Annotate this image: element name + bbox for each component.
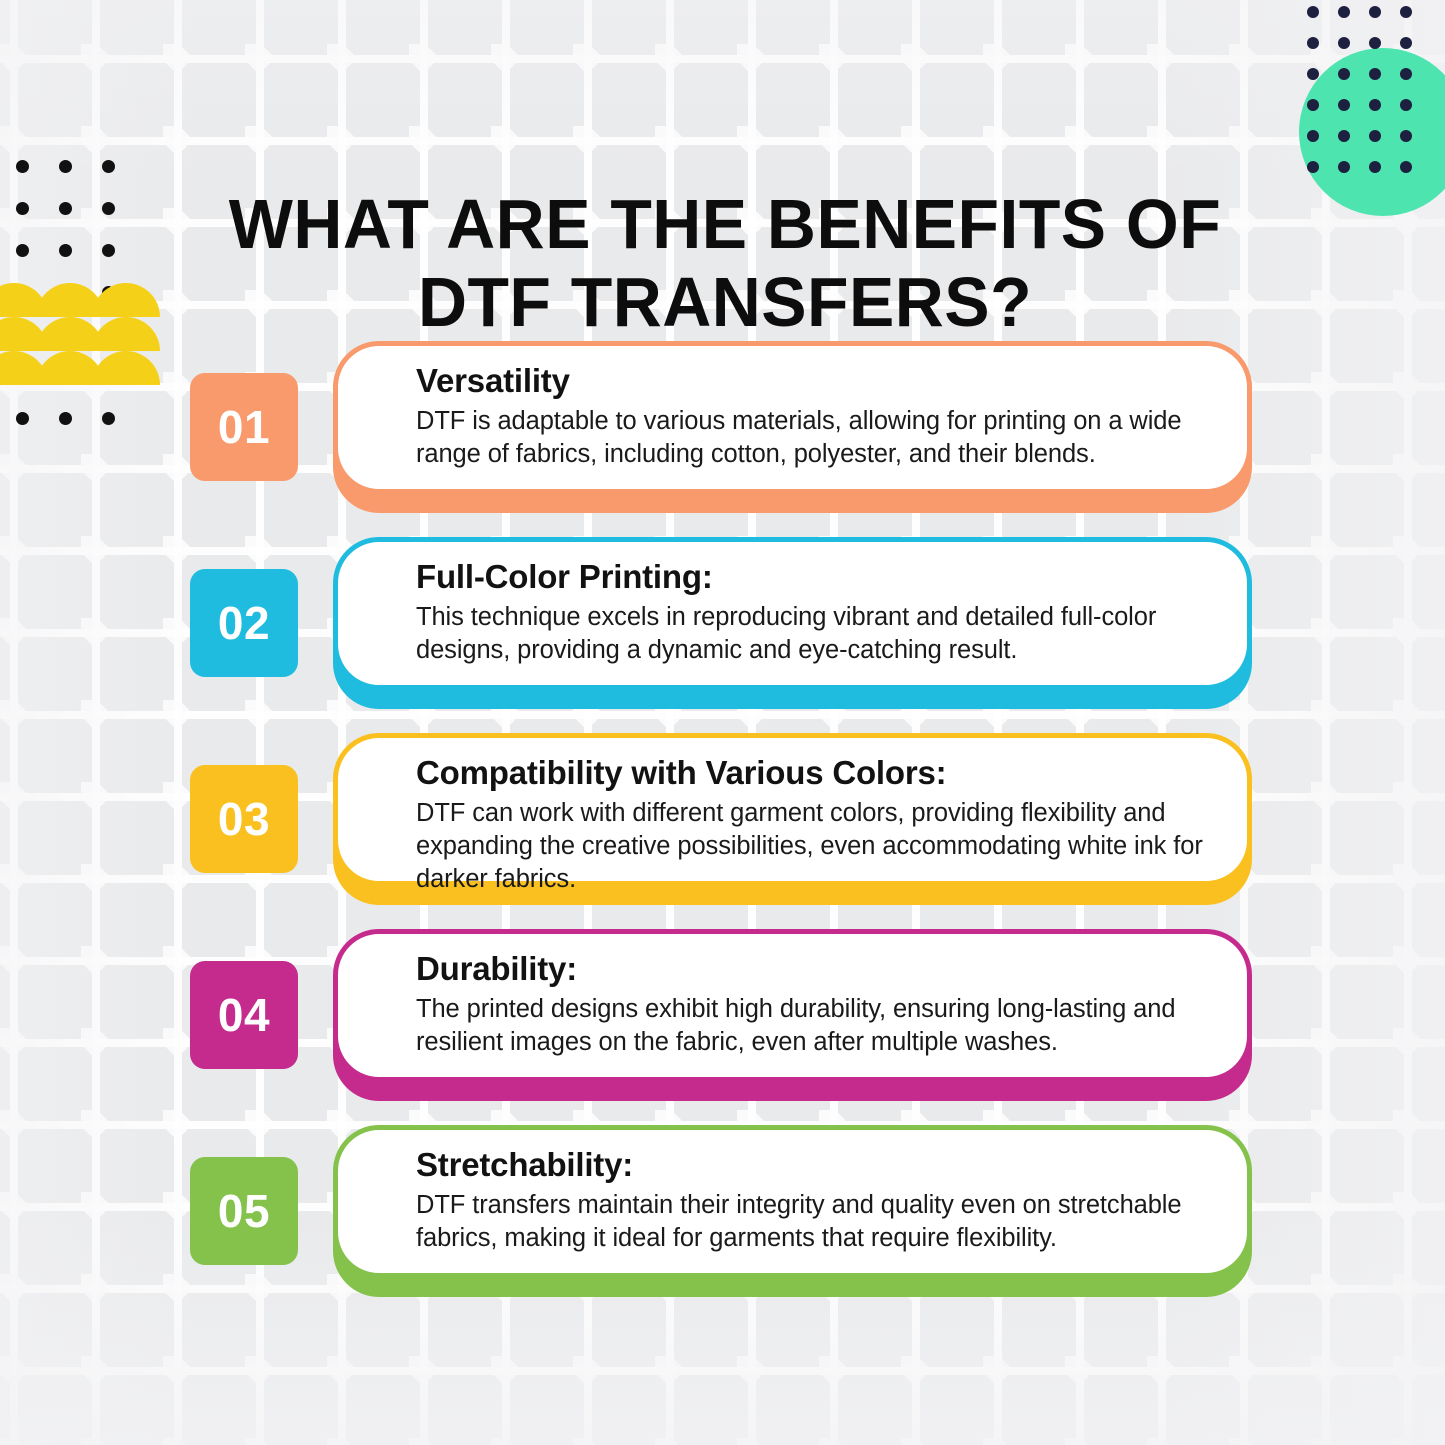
benefit-number-badge[interactable]: 01 xyxy=(190,373,298,481)
benefit-card-surface[interactable]: Compatibility with Various Colors:DTF ca… xyxy=(333,733,1252,886)
dot-grid-top-right-decoration xyxy=(1307,6,1437,186)
dot xyxy=(1400,99,1412,111)
dot xyxy=(1307,68,1319,80)
dot xyxy=(1307,130,1319,142)
benefit-card-title: Versatility xyxy=(416,360,1207,402)
dot xyxy=(1369,68,1381,80)
benefit-card-title: Durability: xyxy=(416,948,1207,990)
benefit-number-badge[interactable]: 02 xyxy=(190,569,298,677)
dot xyxy=(1307,99,1319,111)
dot xyxy=(1369,161,1381,173)
dot xyxy=(1338,6,1350,18)
dot xyxy=(1307,6,1319,18)
benefit-row: 03Compatibility with Various Colors:DTF … xyxy=(0,733,1445,929)
dot xyxy=(1400,6,1412,18)
dot xyxy=(1338,130,1350,142)
benefit-card-surface[interactable]: Durability:The printed designs exhibit h… xyxy=(333,929,1252,1082)
benefit-card-surface[interactable]: Stretchability:DTF transfers maintain th… xyxy=(333,1125,1252,1278)
benefit-number-badge[interactable]: 05 xyxy=(190,1157,298,1265)
benefits-list: 01VersatilityDTF is adaptable to various… xyxy=(0,341,1445,1321)
benefit-card[interactable]: Stretchability:DTF transfers maintain th… xyxy=(333,1125,1252,1297)
benefit-card-title: Compatibility with Various Colors: xyxy=(416,752,1207,794)
dot xyxy=(1400,130,1412,142)
benefit-card-title: Full-Color Printing: xyxy=(416,556,1207,598)
dot xyxy=(102,202,115,215)
benefit-card-body: DTF can work with different garment colo… xyxy=(416,797,1207,896)
dot xyxy=(1369,6,1381,18)
dot xyxy=(1307,161,1319,173)
dot xyxy=(16,202,29,215)
dot xyxy=(1338,161,1350,173)
dot xyxy=(16,160,29,173)
dot xyxy=(16,244,29,257)
benefit-card-body: This technique excels in reproducing vib… xyxy=(416,601,1207,667)
benefit-card-body: DTF is adaptable to various materials, a… xyxy=(416,405,1207,471)
dot xyxy=(1307,37,1319,49)
benefit-card-surface[interactable]: VersatilityDTF is adaptable to various m… xyxy=(333,341,1252,494)
benefit-row: 01VersatilityDTF is adaptable to various… xyxy=(0,341,1445,537)
arch-row xyxy=(0,283,150,317)
benefit-card[interactable]: Full-Color Printing:This technique excel… xyxy=(333,537,1252,709)
arch-shape xyxy=(92,283,160,317)
benefit-row: 02Full-Color Printing:This technique exc… xyxy=(0,537,1445,733)
benefit-card-body: The printed designs exhibit high durabil… xyxy=(416,993,1207,1059)
dot xyxy=(59,202,72,215)
benefit-card[interactable]: Compatibility with Various Colors:DTF ca… xyxy=(333,733,1252,905)
dot xyxy=(1338,37,1350,49)
infographic-poster: WHAT ARE THE BENEFITS OF DTF TRANSFERS? … xyxy=(0,0,1445,1445)
benefit-row: 05Stretchability:DTF transfers maintain … xyxy=(0,1125,1445,1321)
dot xyxy=(1369,37,1381,49)
dot xyxy=(1400,37,1412,49)
dot xyxy=(59,244,72,257)
benefit-row: 04Durability:The printed designs exhibit… xyxy=(0,929,1445,1125)
dot xyxy=(1338,99,1350,111)
benefit-card[interactable]: VersatilityDTF is adaptable to various m… xyxy=(333,341,1252,513)
page-title: WHAT ARE THE BENEFITS OF DTF TRANSFERS? xyxy=(177,185,1273,341)
benefit-card[interactable]: Durability:The printed designs exhibit h… xyxy=(333,929,1252,1101)
benefit-card-body: DTF transfers maintain their integrity a… xyxy=(416,1189,1207,1255)
dot xyxy=(1369,130,1381,142)
benefit-card-surface[interactable]: Full-Color Printing:This technique excel… xyxy=(333,537,1252,690)
benefit-card-title: Stretchability: xyxy=(416,1144,1207,1186)
dot xyxy=(59,160,72,173)
dot xyxy=(1400,161,1412,173)
benefit-number-badge[interactable]: 04 xyxy=(190,961,298,1069)
dot xyxy=(102,160,115,173)
dot xyxy=(1400,68,1412,80)
benefit-number-badge[interactable]: 03 xyxy=(190,765,298,873)
dot xyxy=(1338,68,1350,80)
dot xyxy=(102,244,115,257)
dot xyxy=(1369,99,1381,111)
